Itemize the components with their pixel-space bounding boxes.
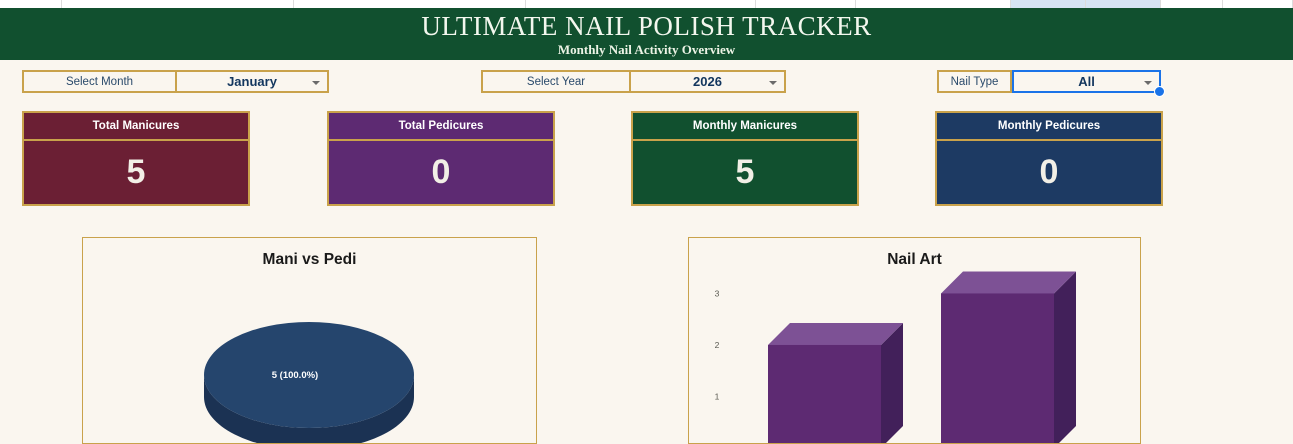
spreadsheet-column-cell[interactable] — [0, 0, 62, 8]
filter-value-month[interactable]: January — [177, 70, 329, 93]
spreadsheet-column-cell[interactable] — [756, 0, 856, 8]
bar-column — [768, 323, 903, 444]
chevron-down-icon[interactable] — [312, 81, 320, 85]
chevron-down-icon[interactable] — [1144, 81, 1152, 85]
kpi-title: Total Manicures — [24, 113, 248, 141]
page-subtitle: Monthly Nail Activity Overview — [558, 42, 735, 58]
spreadsheet-column-cell[interactable] — [526, 0, 756, 8]
filter-bar: Select Month January Select Year 2026 Na… — [0, 60, 1293, 105]
kpi-title: Total Pedicures — [329, 113, 553, 141]
y-axis-tick-label: 2 — [715, 340, 720, 350]
spreadsheet-column-cell[interactable] — [294, 0, 526, 8]
kpi-card-monthly-manicures: Monthly Manicures 5 — [631, 111, 859, 206]
pie-slice-label: 5 (100.0%) — [272, 370, 318, 381]
kpi-value: 0 — [329, 141, 553, 204]
kpi-value: 0 — [937, 141, 1161, 204]
y-axis-tick-label: 1 — [715, 391, 720, 401]
spreadsheet-column-cell[interactable] — [856, 0, 1011, 8]
spreadsheet-column-cell[interactable] — [1086, 0, 1161, 8]
y-axis-tick-label: 3 — [715, 288, 720, 298]
filter-label-year: Select Year — [481, 70, 631, 93]
spreadsheet-column-cell[interactable] — [1161, 0, 1223, 8]
chart-panel-nail-art[interactable]: Nail Art 123 — [688, 237, 1141, 444]
kpi-title: Monthly Manicures — [633, 113, 857, 141]
filter-label-month: Select Month — [22, 70, 177, 93]
spreadsheet-column-cell[interactable] — [1011, 0, 1086, 8]
filter-value-year[interactable]: 2026 — [631, 70, 786, 93]
chevron-down-icon[interactable] — [769, 81, 777, 85]
spreadsheet-column-cell[interactable] — [62, 0, 294, 8]
filter-value-year-text: 2026 — [693, 74, 722, 89]
filter-nail-type[interactable]: Nail Type All — [937, 70, 1161, 93]
kpi-title: Monthly Pedicures — [937, 113, 1161, 141]
selection-drag-handle[interactable] — [1154, 86, 1165, 97]
filter-select-year[interactable]: Select Year 2026 — [481, 70, 786, 93]
dashboard-banner: ULTIMATE NAIL POLISH TRACKER Monthly Nai… — [0, 8, 1293, 60]
filter-label-nail-type: Nail Type — [937, 70, 1012, 93]
kpi-value: 5 — [24, 141, 248, 204]
filter-value-nail-type-text: All — [1078, 74, 1095, 89]
kpi-card-total-pedicures: Total Pedicures 0 — [327, 111, 555, 206]
dashboard-root: ULTIMATE NAIL POLISH TRACKER Monthly Nai… — [0, 0, 1293, 444]
kpi-card-total-manicures: Total Manicures 5 — [22, 111, 250, 206]
bar-column — [941, 271, 1076, 444]
page-title: ULTIMATE NAIL POLISH TRACKER — [421, 11, 871, 41]
spreadsheet-column-cell[interactable] — [1223, 0, 1293, 8]
filter-value-month-text: January — [227, 74, 277, 89]
filter-select-month[interactable]: Select Month January — [22, 70, 329, 93]
bar-chart-nail-art: 123 — [689, 238, 1141, 444]
kpi-value: 5 — [633, 141, 857, 204]
chart-panel-mani-vs-pedi[interactable]: Mani vs Pedi 5 (100.0%) — [82, 237, 537, 444]
filter-value-nail-type[interactable]: All — [1012, 70, 1161, 93]
pie-chart-mani-vs-pedi: 5 (100.0%) — [83, 238, 537, 444]
kpi-card-monthly-pedicures: Monthly Pedicures 0 — [935, 111, 1163, 206]
